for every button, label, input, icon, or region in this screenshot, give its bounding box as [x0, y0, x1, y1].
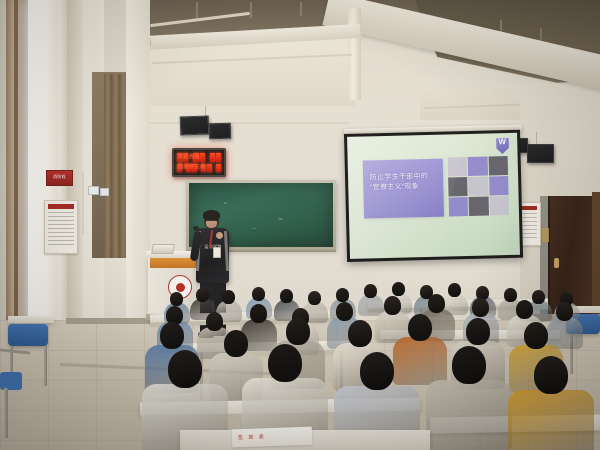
classroom-photo: 欢迎光临 团委学生会 消防栓 防止学生干部中的 “官僚主义”现象 [0, 0, 600, 450]
audience-member-head [452, 346, 486, 384]
audience-member-head [268, 344, 302, 382]
audience-member-torso [508, 390, 594, 450]
sign-in-sheet-text: 签 到 表 [238, 432, 308, 441]
audience-row-front [0, 0, 600, 450]
audience-member-head [360, 352, 394, 390]
sign-in-sheet[interactable]: 签 到 表 [232, 427, 313, 448]
audience-member-head [168, 350, 202, 388]
audience-member-head [534, 356, 568, 394]
audience-member-torso [426, 380, 512, 450]
